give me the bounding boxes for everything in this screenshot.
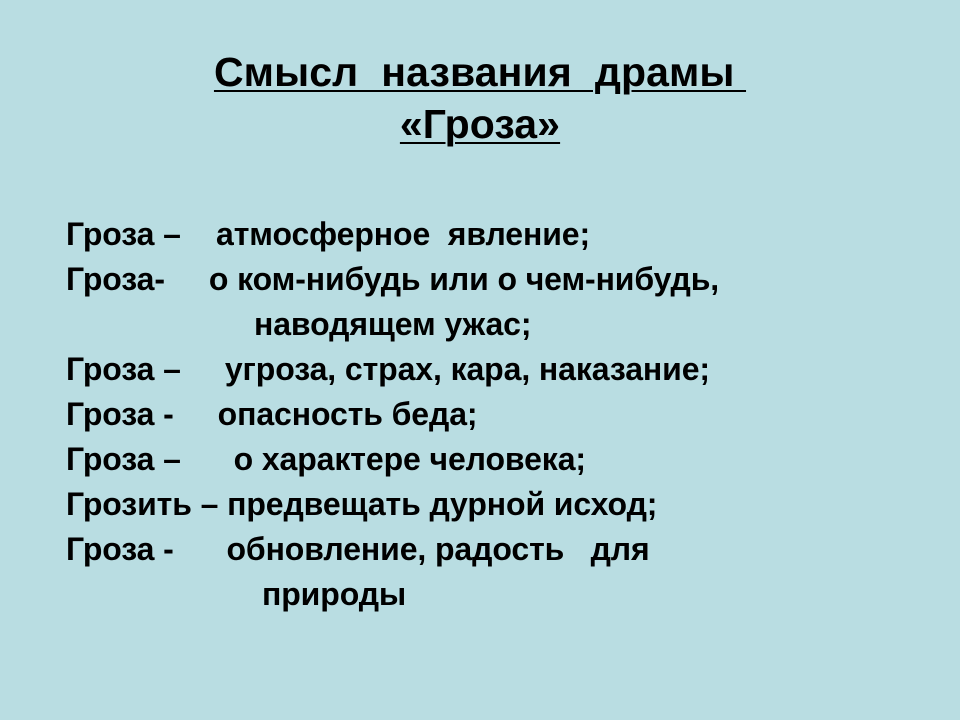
definition-list: Гроза – атмосферное явление; Гроза- о ко… (66, 212, 946, 617)
title-line-1: Смысл названия драмы (0, 46, 960, 98)
definition-line: Гроза – атмосферное явление; (66, 212, 946, 257)
slide-title: Смысл названия драмы «Гроза» (0, 46, 960, 150)
definition-line: Гроза - обновление, радость для (66, 527, 946, 572)
title-line-2-text: «Гроза» (400, 101, 560, 147)
slide-canvas: Смысл названия драмы «Гроза» Гроза – атм… (0, 0, 960, 720)
definition-line: Гроза- о ком-нибудь или о чем-нибудь, (66, 257, 946, 302)
definition-line: Гроза – угроза, страх, кара, наказание; (66, 347, 946, 392)
definition-line-continuation: наводящем ужас; (66, 302, 946, 347)
definition-line-continuation: природы (66, 572, 946, 617)
definition-line: Грозить – предвещать дурной исход; (66, 482, 946, 527)
definition-line: Гроза – о характере человека; (66, 437, 946, 482)
definition-line: Гроза - опасность беда; (66, 392, 946, 437)
title-line-1-text: Смысл названия драмы (214, 49, 746, 95)
title-line-2: «Гроза» (0, 98, 960, 150)
